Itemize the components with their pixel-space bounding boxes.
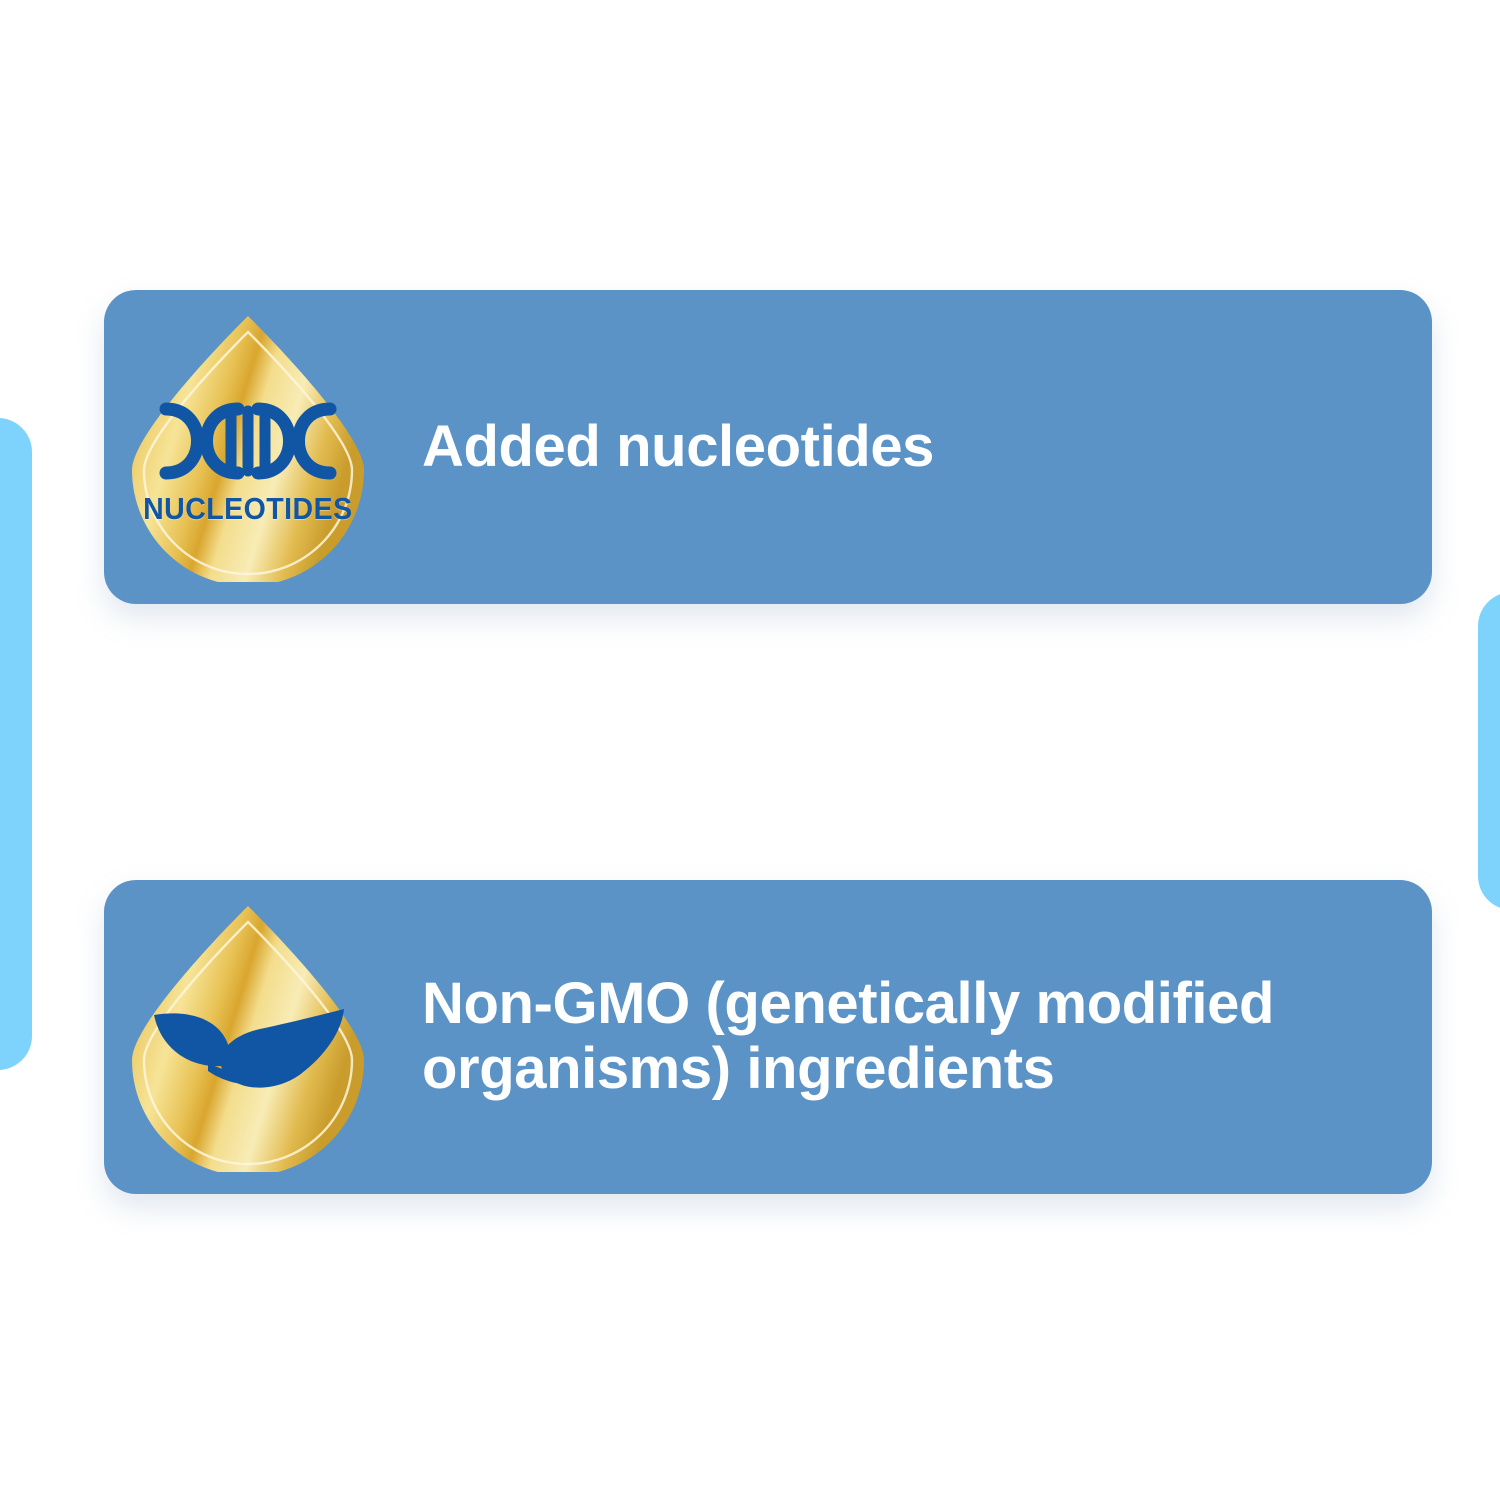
feature-carousel: NUCLEOTIDES Added nucleotides bbox=[0, 0, 1500, 1500]
feature-card-label: Added nucleotides bbox=[422, 415, 994, 480]
nucleotides-badge-content: NUCLEOTIDES bbox=[128, 312, 368, 582]
feature-card-non-gmo[interactable]: Non-GMO (genetically modified organisms)… bbox=[104, 880, 1432, 1194]
badge-word-nucleotides: NUCLEOTIDES bbox=[143, 491, 352, 527]
peek-card-left[interactable] bbox=[0, 418, 32, 1070]
feature-card-added-nucleotides[interactable]: NUCLEOTIDES Added nucleotides bbox=[104, 290, 1432, 604]
non-gmo-badge bbox=[128, 902, 368, 1172]
non-gmo-badge-content bbox=[128, 902, 368, 1172]
dna-helix-icon bbox=[156, 401, 340, 481]
leaf-sprout-icon bbox=[148, 995, 348, 1105]
peek-card-right[interactable] bbox=[1478, 592, 1500, 910]
nucleotides-badge: NUCLEOTIDES bbox=[128, 312, 368, 582]
feature-card-label: Non-GMO (genetically modified organisms)… bbox=[422, 972, 1432, 1102]
